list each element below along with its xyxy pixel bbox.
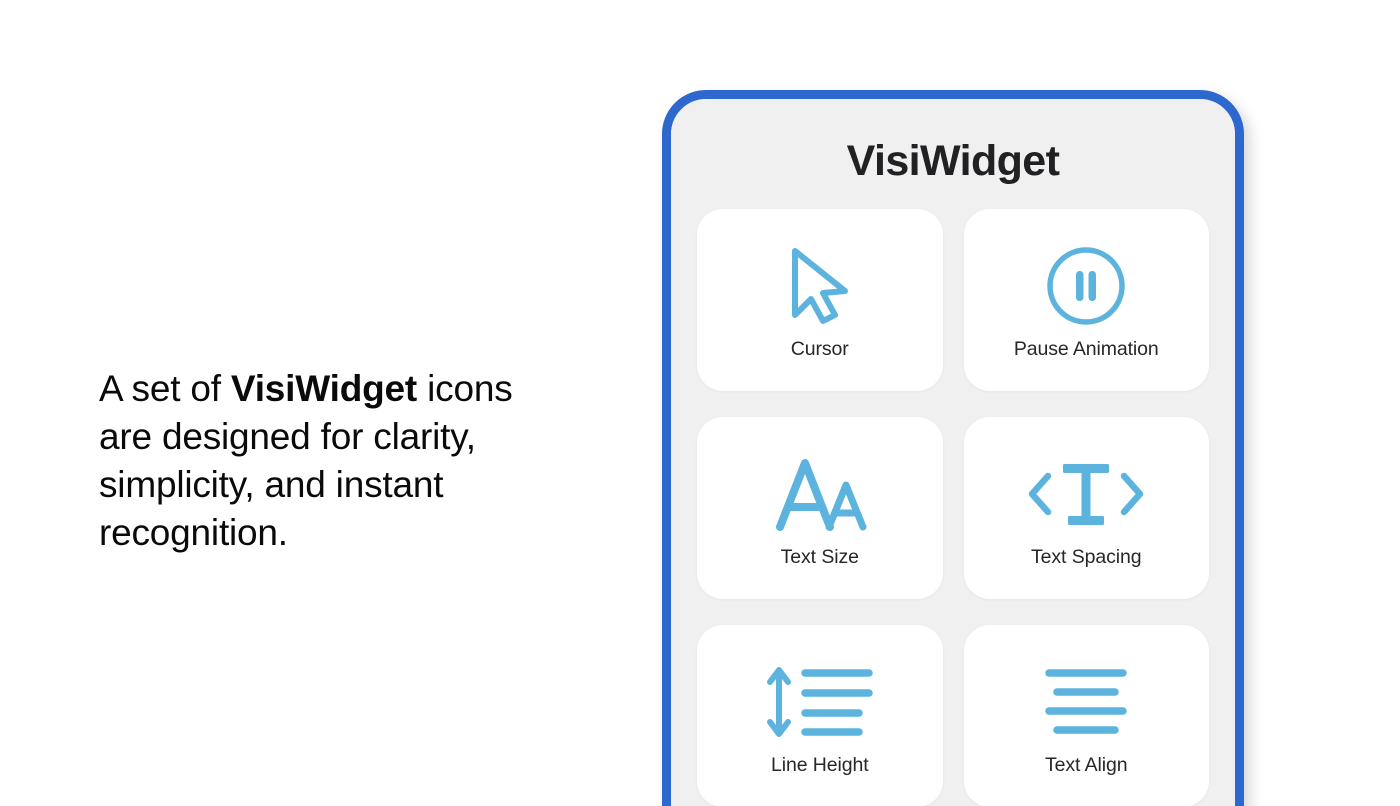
- icon-label-text-align: Text Align: [1045, 754, 1127, 777]
- text-align-icon: [1046, 656, 1126, 748]
- icon-label-text-size: Text Size: [781, 546, 859, 569]
- cursor-arrow-icon: [785, 240, 855, 332]
- icon-label-line-height: Line Height: [771, 754, 869, 777]
- phone-screen: VisiWidget Cursor: [671, 99, 1235, 806]
- icon-card-cursor[interactable]: Cursor: [697, 209, 943, 391]
- icon-grid: Cursor Pause Animation: [697, 209, 1209, 806]
- text-size-icon: [772, 448, 868, 540]
- promo-lead-text: A set of: [99, 368, 231, 409]
- icon-label-cursor: Cursor: [791, 338, 849, 361]
- icon-card-line-height[interactable]: Line Height: [697, 625, 943, 806]
- text-spacing-icon: [1022, 448, 1150, 540]
- icon-label-pause-animation: Pause Animation: [1014, 338, 1159, 361]
- line-height-icon: [765, 656, 875, 748]
- pause-circle-icon: [1045, 240, 1127, 332]
- icon-card-text-size[interactable]: Text Size: [697, 417, 943, 599]
- promo-description: A set of VisiWidget icons are designed f…: [99, 365, 569, 557]
- icon-card-text-align[interactable]: Text Align: [964, 625, 1210, 806]
- icon-card-text-spacing[interactable]: Text Spacing: [964, 417, 1210, 599]
- phone-frame: VisiWidget Cursor: [662, 90, 1244, 806]
- app-title: VisiWidget: [697, 137, 1209, 186]
- promo-brand-name: VisiWidget: [231, 368, 417, 409]
- icon-card-pause-animation[interactable]: Pause Animation: [964, 209, 1210, 391]
- icon-label-text-spacing: Text Spacing: [1031, 546, 1141, 569]
